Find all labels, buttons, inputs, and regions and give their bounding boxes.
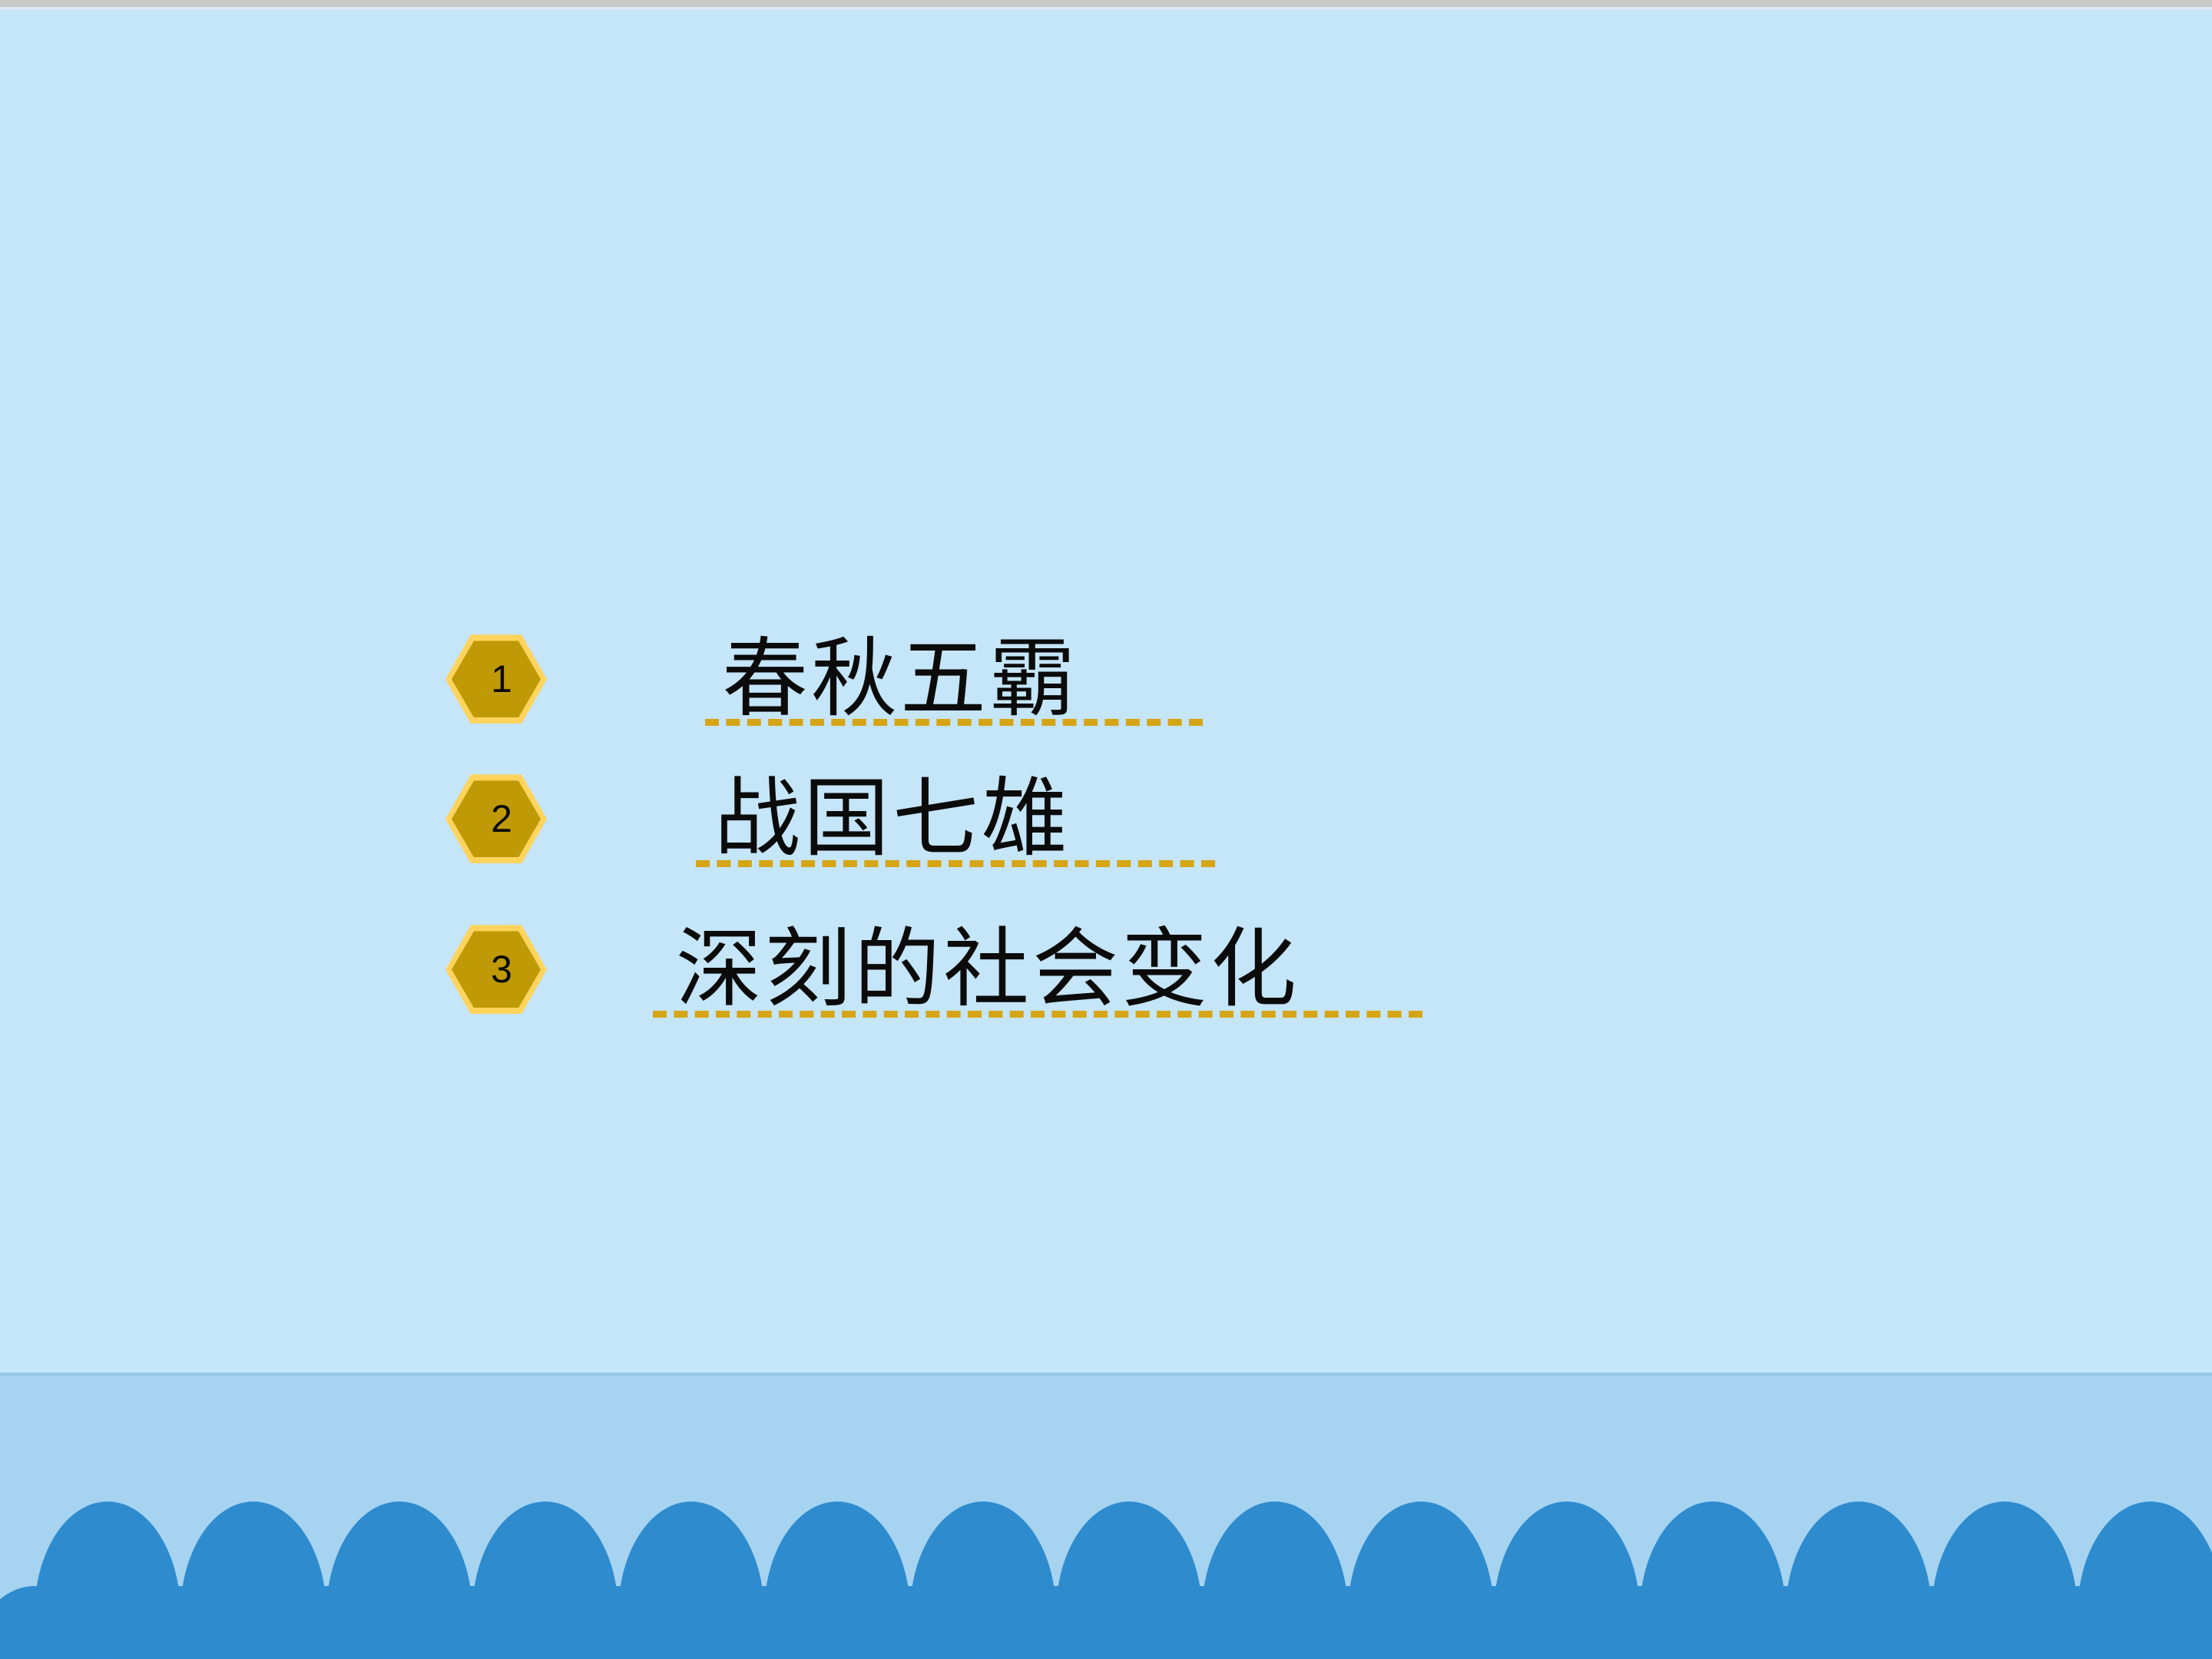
agenda-item-1-label: 春秋五霸 [722,630,1078,729]
hex-badge-3[interactable]: 3 [445,925,547,1014]
agenda-item-3-label-wrap: 深刻的社会变化 [676,920,1300,1019]
agenda-item-2-label-wrap: 战国七雄 [714,770,1071,869]
agenda-item-3-label: 深刻的社会变化 [676,920,1300,1019]
slide-canvas: 1 春秋五霸 2 战国七雄 3 深刻的社会变化 [0,0,2212,1659]
hex-badge-1-number: 1 [480,660,512,698]
hex-badge-2-number: 2 [480,800,512,838]
agenda-item-3[interactable]: 3 深刻的社会变化 [445,920,1300,1019]
hex-badge-1[interactable]: 1 [445,634,547,724]
agenda-item-1[interactable]: 1 春秋五霸 [445,630,1078,729]
agenda-item-2-label: 战国七雄 [714,770,1071,869]
agenda-list: 1 春秋五霸 2 战国七雄 3 深刻的社会变化 [0,0,2212,1659]
hex-badge-2[interactable]: 2 [445,774,547,863]
agenda-item-1-underline [705,719,1203,726]
agenda-item-2-underline [696,860,1215,867]
agenda-item-1-label-wrap: 春秋五霸 [722,630,1078,729]
hex-badge-3-number: 3 [480,950,512,988]
agenda-item-3-underline [653,1011,1422,1018]
agenda-item-2[interactable]: 2 战国七雄 [445,770,1071,869]
